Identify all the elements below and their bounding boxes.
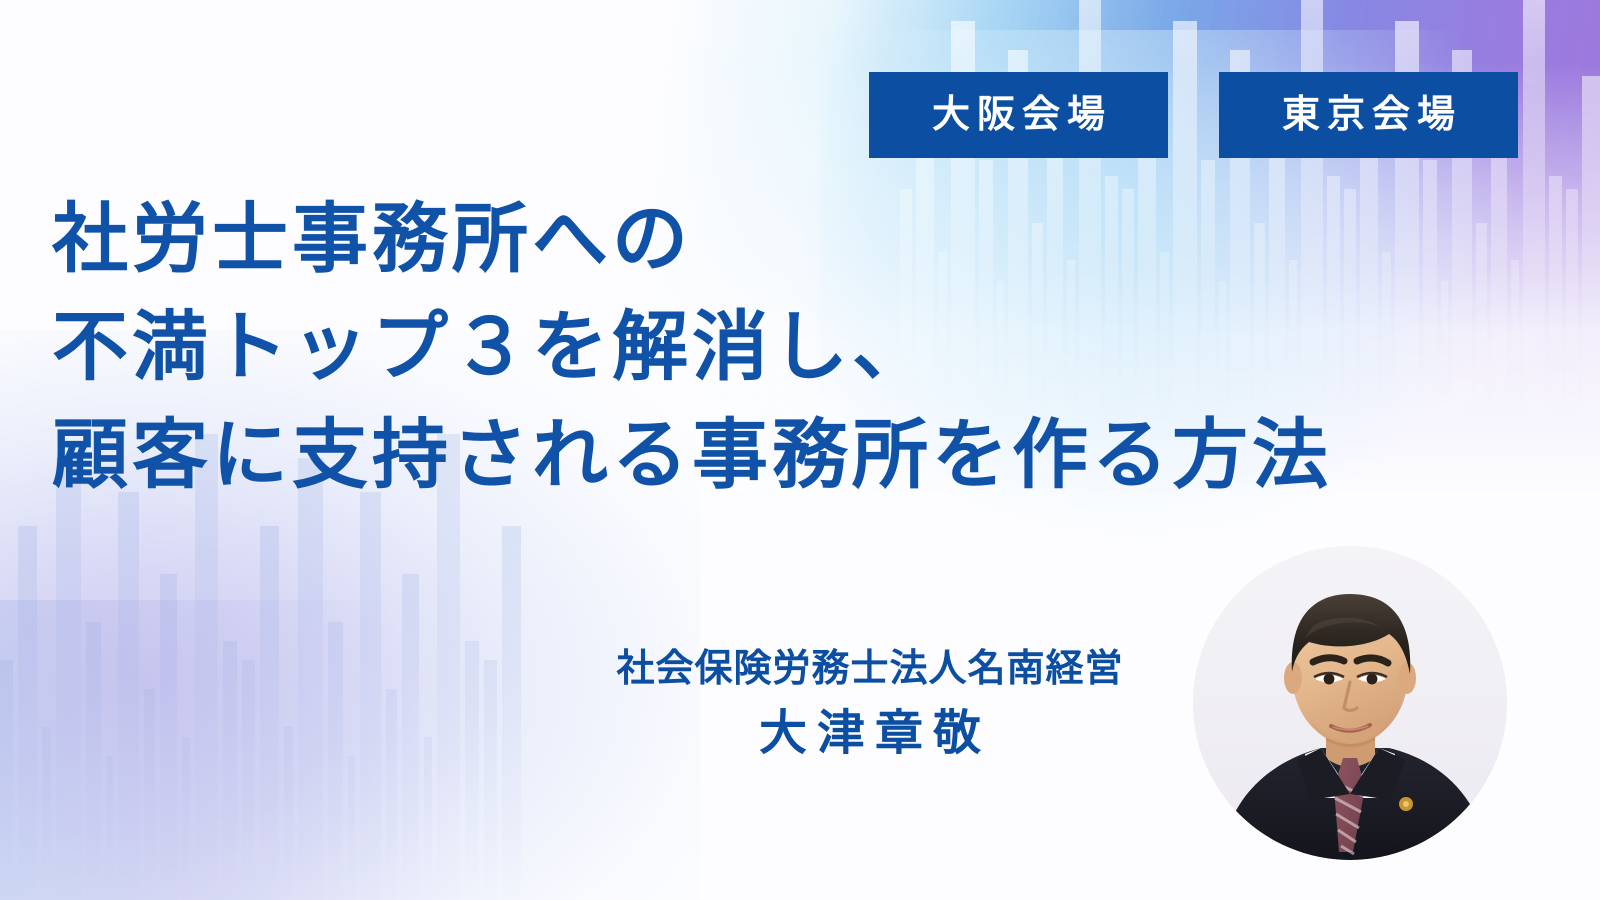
speaker-organization: 社会保険労務士法人名南経営 bbox=[560, 645, 1180, 694]
venue-badge-tokyo-label: 東京会場 bbox=[1275, 96, 1462, 134]
headline-line-1: 社労士事務所への bbox=[52, 186, 1572, 294]
speaker-name: 大津章敬 bbox=[560, 704, 1180, 764]
headline-line-2: 不満トップ３を解消し、 bbox=[52, 294, 1572, 402]
headline-line-3: 顧客に支持される事務所を作る方法 bbox=[52, 402, 1572, 510]
venue-badge-tokyo[interactable]: 東京会場 bbox=[1219, 72, 1518, 158]
venue-badge-osaka-label: 大阪会場 bbox=[925, 96, 1112, 134]
speaker-portrait bbox=[1193, 546, 1507, 860]
background-gradient-bottom-left-secondary bbox=[0, 600, 500, 900]
venue-badge-osaka[interactable]: 大阪会場 bbox=[869, 72, 1168, 158]
speaker-info: 社会保険労務士法人名南経営 大津章敬 bbox=[560, 645, 1180, 764]
headline: 社労士事務所への 不満トップ３を解消し、 顧客に支持される事務所を作る方法 bbox=[52, 186, 1572, 510]
seminar-banner: 大阪会場 東京会場 社労士事務所への 不満トップ３を解消し、 顧客に支持される事… bbox=[0, 0, 1600, 900]
